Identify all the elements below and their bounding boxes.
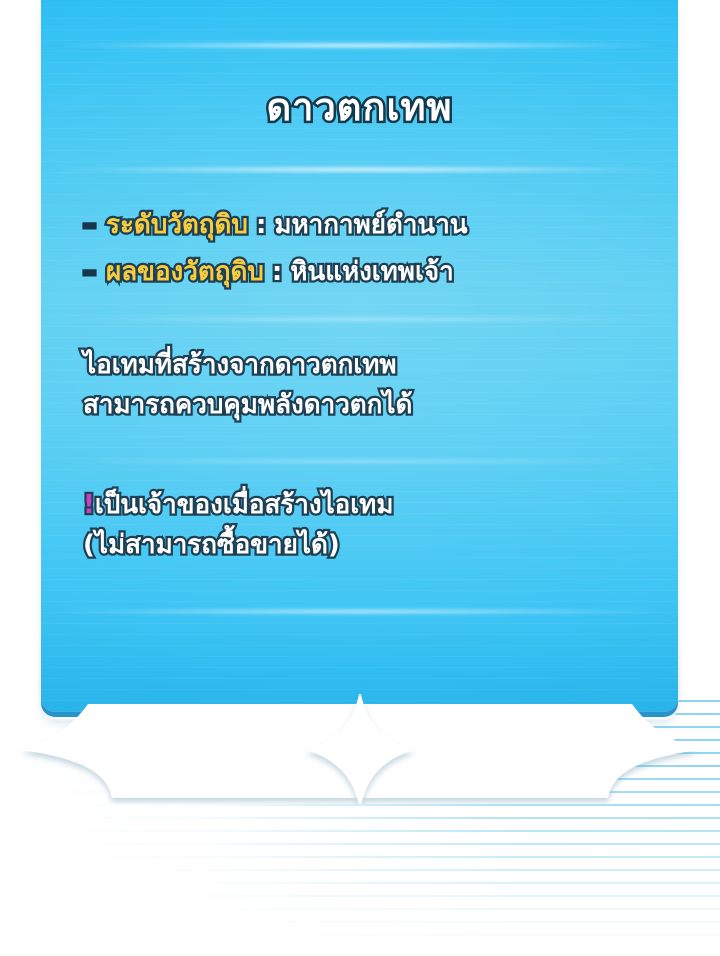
note-line-first: !เป็นเจ้าของเมื่อสร้างไอเทม — [83, 486, 660, 526]
background-stripes — [0, 700, 720, 956]
item-info-panel: ดาวตกเทพ – ระดับวัตถุดิบ : มหากาพย์ตำนาน… — [41, 0, 678, 712]
stat-separator: : — [248, 212, 274, 238]
note-line-text: เป็นเจ้าของเมื่อสร้างไอเทม — [95, 490, 394, 520]
stat-row-grade: – ระดับวัตถุดิบ : มหากาพย์ตำนาน — [83, 212, 658, 238]
stat-row-effect: – ผลของวัตถุดิบ : หินแห่งเทพเจ้า — [83, 259, 658, 285]
item-description: ไอเทมที่สร้างจากดาวตกเทพ สามารถควบคุมพลั… — [83, 346, 660, 425]
stat-label-grade: ระดับวัตถุดิบ — [106, 212, 248, 238]
description-line: สามารถควบคุมพลังดาวตกได้ — [83, 386, 660, 426]
comic-panel-stage: ดาวตกเทพ – ระดับวัตถุดิบ : มหากาพย์ตำนาน… — [0, 0, 720, 956]
stat-label-effect: ผลของวัตถุดิบ — [106, 259, 264, 285]
stat-separator: : — [264, 259, 290, 285]
note-line: (ไม่สามารถซื้อขายได้) — [83, 526, 660, 566]
item-stat-list: – ระดับวัตถุดิบ : มหากาพย์ตำนาน – ผลของว… — [83, 212, 658, 306]
item-title: ดาวตกเทพ — [41, 84, 678, 132]
item-note: !เป็นเจ้าของเมื่อสร้างไอเทม (ไม่สามารถซื… — [83, 486, 660, 565]
description-line: ไอเทมที่สร้างจากดาวตกเทพ — [83, 346, 660, 386]
exclamation-icon: ! — [83, 490, 95, 520]
ribbon-left-wing — [22, 704, 360, 798]
stat-value-grade: มหากาพย์ตำนาน — [274, 212, 467, 238]
stat-value-effect: หินแห่งเทพเจ้า — [290, 259, 453, 285]
panel-content: ดาวตกเทพ – ระดับวัตถุดิบ : มหากาพย์ตำนาน… — [41, 0, 678, 712]
ribbon-right-wing — [360, 704, 698, 798]
bullet-dash-icon: – — [83, 259, 96, 285]
bullet-dash-icon: – — [83, 212, 96, 238]
